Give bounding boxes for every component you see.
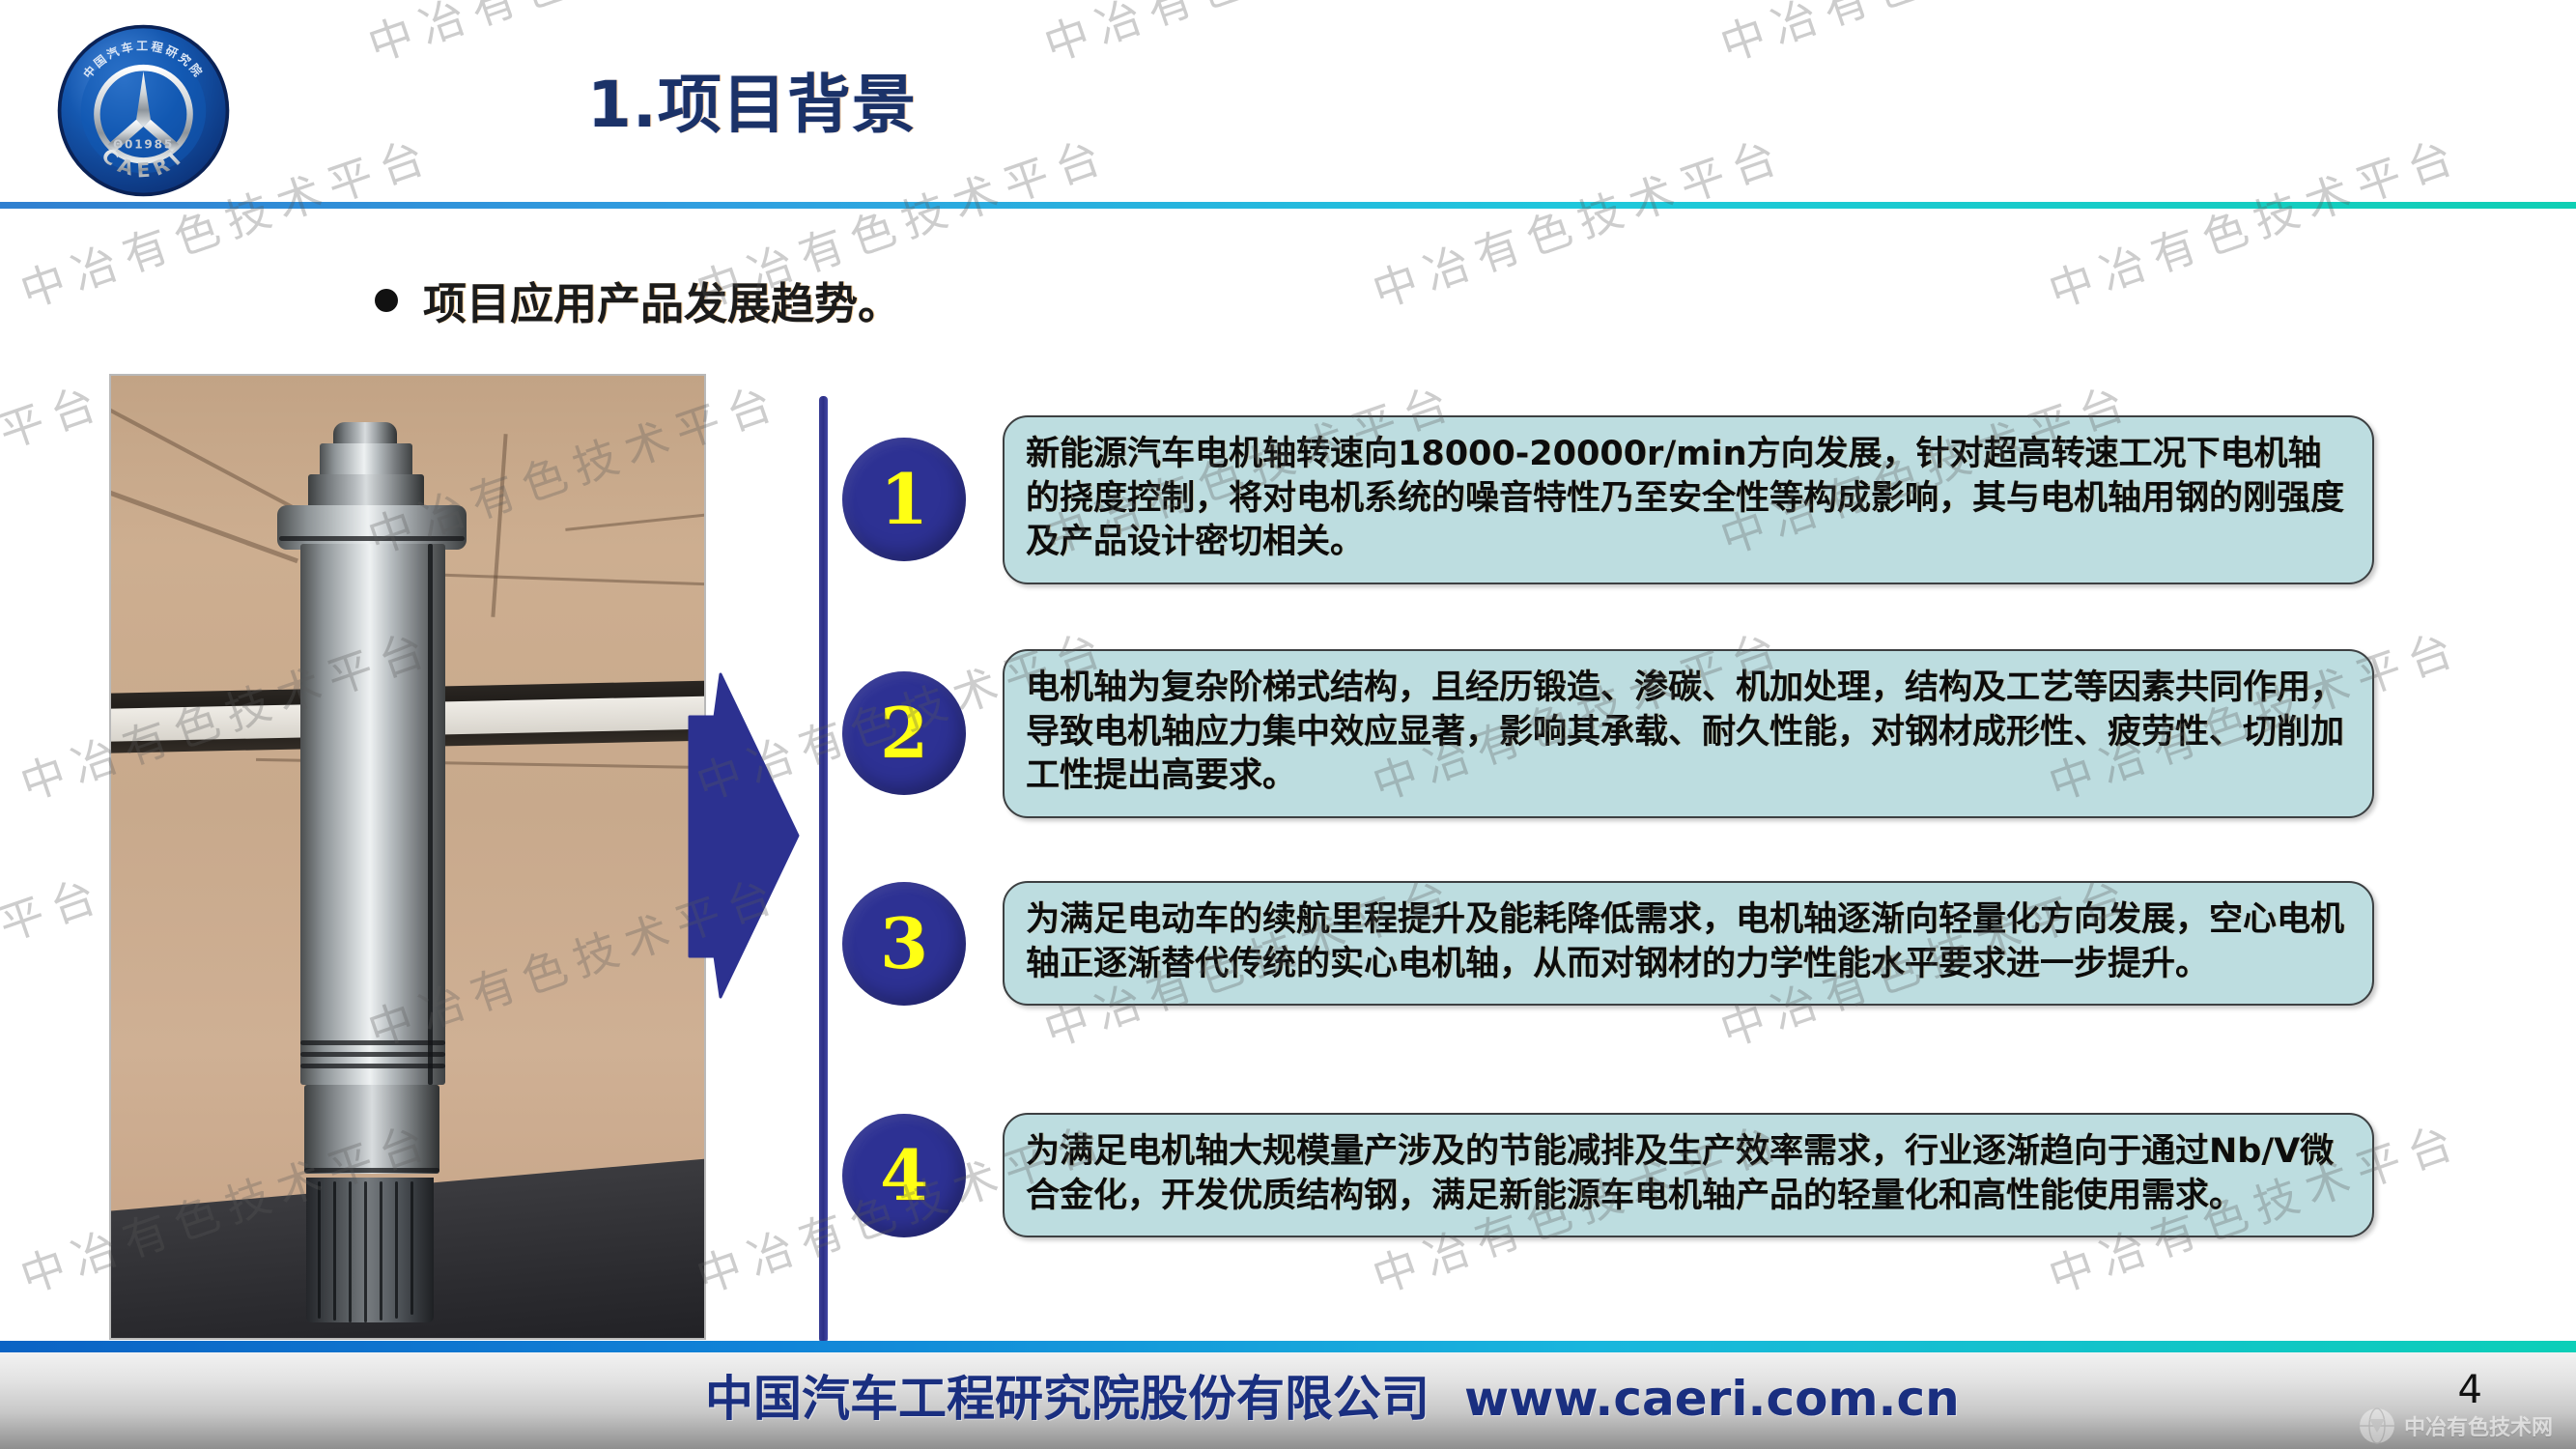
watermark-text: 中冶有色技术平台: [0, 0, 113, 74]
watermark-text: 中冶有色技术平台: [1034, 366, 1464, 567]
watermark-text: 中冶有色技术平台: [1363, 120, 1793, 321]
watermark-text: 中冶有色技术平台: [1711, 366, 2140, 567]
watermark-text: 中冶有色技术平台: [1363, 612, 1793, 813]
watermark-text: 中冶有色技术平台: [11, 1105, 440, 1306]
watermark-text: 中冶有色技术平台: [11, 120, 440, 321]
watermark-text: 中冶有色技术平台: [358, 859, 788, 1060]
watermark-text: 中冶有色技术平台: [1363, 1105, 1793, 1306]
watermark-text: 中冶有色技术平台: [687, 1105, 1117, 1306]
watermark-text: 中冶有色技术平台: [1034, 0, 1464, 74]
watermark-text: 中冶有色技术平台: [0, 366, 113, 567]
watermark-text: 中冶有色技术平台: [2039, 120, 2469, 321]
watermark-text: 中冶有色技术平台: [1711, 859, 2140, 1060]
watermark-text: 中冶有色技术平台: [2039, 1105, 2469, 1306]
slide-canvas: 中国汽车工程研究院 CAERI Θ01985 1.项目背景 项目应用产品发展趋势…: [0, 0, 2576, 1449]
watermark-layer: 中冶有色技术平台中冶有色技术平台中冶有色技术平台中冶有色技术平台中冶有色技术平台…: [0, 0, 2576, 1449]
watermark-text: 中冶有色技术平台: [687, 120, 1117, 321]
watermark-text: 中冶有色技术平台: [2039, 612, 2469, 813]
watermark-text: 中冶有色技术平台: [1034, 859, 1464, 1060]
watermark-text: 中冶有色技术平台: [687, 612, 1117, 813]
watermark-text: 中冶有色技术平台: [358, 366, 788, 567]
watermark-text: 中冶有色技术平台: [0, 859, 113, 1060]
watermark-text: 中冶有色技术平台: [11, 612, 440, 813]
watermark-text: 中冶有色技术平台: [1711, 0, 2140, 74]
watermark-text: 中冶有色技术平台: [358, 0, 788, 74]
